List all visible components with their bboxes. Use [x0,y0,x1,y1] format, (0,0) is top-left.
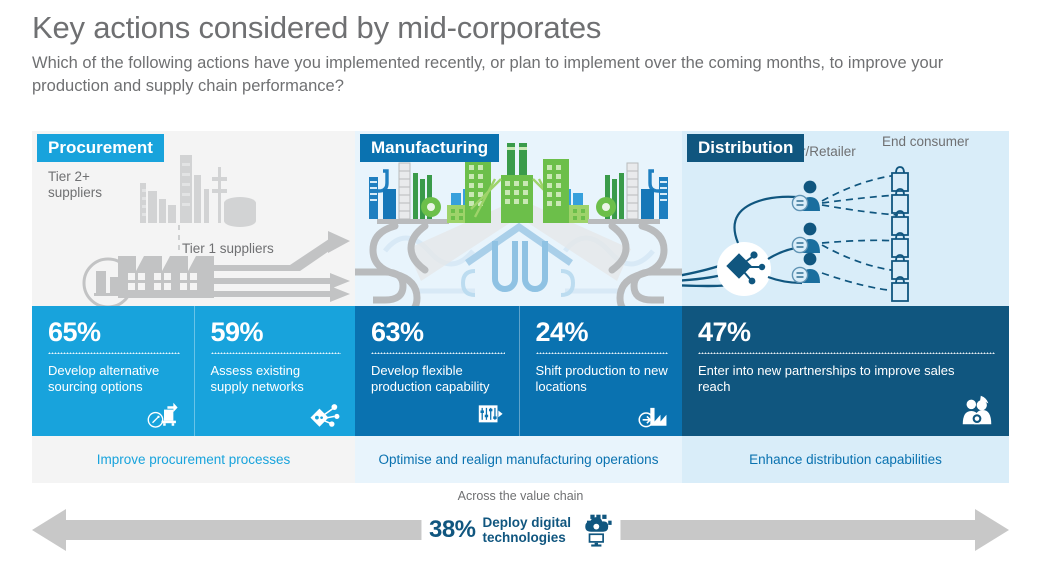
value-chain-board: Tier 2+ suppliers Tier 1 suppliers Procu… [32,131,1009,483]
distribution-stats: 47% Enter into new partnerships to impro… [682,306,1009,436]
factory-relocate-icon [634,396,670,430]
distribution-caption: Enhance distribution capabilities [682,436,1009,483]
value-chain-callout[interactable]: 38% Deploy digital technologies [421,511,620,549]
label-tier1-suppliers: Tier 1 suppliers [182,241,274,257]
stat-card[interactable]: 24% Shift production to new locations [519,306,683,436]
digital-cloud-monitor-icon [578,513,612,547]
section-procurement: Tier 2+ suppliers Tier 1 suppliers Procu… [32,131,355,483]
caption-text: Enhance distribution capabilities [749,452,942,467]
caption-text: Optimise and realign manufacturing opera… [379,452,659,467]
infographic-page: Key actions considered by mid-corporates… [0,0,1040,568]
manufacturing-stats: 63% Develop flexible production capabili… [355,306,682,436]
stat-divider [371,352,505,354]
consumer-bags [892,167,908,301]
value-chain-text-line2: technologies [483,530,566,545]
caption-text: Improve procurement processes [97,452,291,467]
stat-divider [211,352,342,354]
partnership-handshake-icon [957,392,997,430]
procurement-stats: 65% Develop alternative sourcing options [32,306,355,436]
stat-percent: 59% [211,318,342,346]
section-manufacturing: Manufacturing 63% Develop flexible produ… [355,131,682,483]
header: Key actions considered by mid-corporates… [32,8,1017,98]
stat-card[interactable]: 65% Develop alternative sourcing options [32,306,194,436]
stat-divider [698,352,995,354]
page-title: Key actions considered by mid-corporates [32,8,1017,48]
stat-percent: 24% [536,318,669,346]
stat-description: Develop flexible production capability [371,363,505,395]
badge-procurement: Procurement [37,134,164,162]
procurement-caption: Improve procurement processes [32,436,355,483]
stat-percent: 47% [698,318,995,346]
stat-percent: 65% [48,318,180,346]
label-tier2-suppliers: Tier 2+ suppliers [48,169,118,201]
page-subtitle: Which of the following actions have you … [32,52,992,98]
stat-percent: 63% [371,318,505,346]
value-chain-text-line1: Deploy digital [483,515,572,530]
stat-divider [536,352,669,354]
stat-description: Assess existing supply networks [211,363,342,395]
retailer-group [792,181,820,283]
stat-card[interactable]: 63% Develop flexible production capabili… [355,306,519,436]
value-chain-percent: 38% [429,516,476,544]
stat-description: Enter into new partnerships to improve s… [698,363,958,395]
stat-description: Shift production to new locations [536,363,669,395]
value-chain-label: Across the value chain [32,489,1009,503]
badge-distribution: Distribution [687,134,804,162]
stat-divider [48,352,180,354]
section-distribution: Distributor/Retailer End consumer Distri… [682,131,1009,483]
network-nodes-icon [307,396,343,430]
stat-card[interactable]: 47% Enter into new partnerships to impro… [682,306,1009,436]
stat-card[interactable]: 59% Assess existing supply networks [194,306,356,436]
stat-description: Develop alternative sourcing options [48,363,180,395]
label-end-consumer: End consumer [882,134,969,150]
sliders-control-icon [471,396,507,430]
value-chain-text: Deploy digital technologies [483,515,572,545]
value-chain-band: Across the value chain 38% Deploy digita… [32,489,1009,561]
forklift-pallet-icon [146,396,182,430]
badge-manufacturing: Manufacturing [360,134,499,162]
manufacturing-caption: Optimise and realign manufacturing opera… [355,436,682,483]
